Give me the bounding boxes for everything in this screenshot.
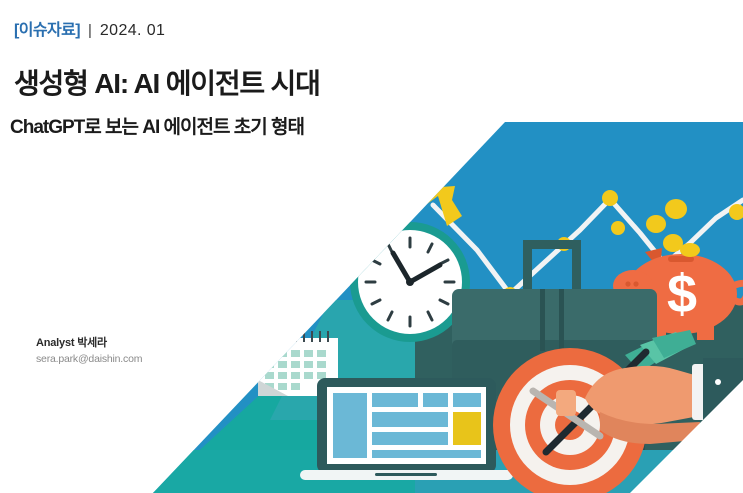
screen-highlight-block — [453, 412, 481, 445]
screen-block — [453, 393, 481, 407]
piggy-leg — [697, 322, 714, 340]
coin — [680, 243, 700, 257]
briefcase-latch-seam — [559, 289, 564, 351]
screen-block — [372, 393, 418, 407]
screen-block — [423, 393, 448, 407]
piggy-dollar-symbol: $ — [667, 264, 697, 324]
screen-block — [372, 412, 448, 427]
thumb — [556, 390, 576, 416]
screen-sidebar — [333, 393, 367, 458]
briefcase-latch-seam — [540, 289, 545, 351]
page-title: 생성형 AI: AI 에이전트 시대 — [14, 62, 320, 102]
chart-node — [602, 190, 618, 206]
report-date: 2024. 01 — [100, 22, 165, 40]
coin — [663, 234, 683, 252]
piggy-nostril — [625, 281, 630, 286]
briefcase-handle-top — [523, 240, 581, 249]
analyst-email: sera.park@daishin.com — [36, 352, 142, 367]
screen-block — [372, 432, 448, 445]
coin — [646, 215, 666, 233]
cover-page: $ — [0, 0, 743, 493]
screen-block — [372, 450, 481, 458]
analyst-block: Analyst 박세라 sera.park@daishin.com — [36, 336, 142, 367]
laptop-trackpad-lip — [375, 473, 437, 476]
laptop — [300, 378, 513, 480]
cuff-button — [715, 379, 721, 385]
report-type-tag: [이슈자료] — [14, 16, 80, 40]
analyst-name: Analyst 박세라 — [36, 336, 142, 352]
chart-node — [611, 221, 625, 235]
header-line: [이슈자료] | 2024. 01 — [14, 16, 165, 40]
piggy-nostril — [633, 281, 638, 286]
clock-center-pin — [406, 278, 414, 286]
coin — [665, 199, 687, 219]
page-subtitle: ChatGPT로 보는 AI 에이전트 초기 형태 — [10, 112, 304, 139]
header-separator: | — [88, 22, 92, 39]
